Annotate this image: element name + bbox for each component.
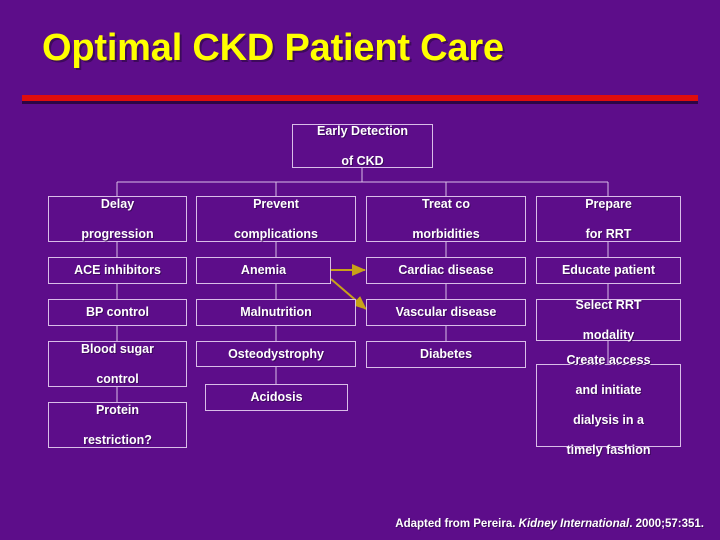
node-osteodystrophy[interactable]: Osteodystrophy — [196, 341, 356, 367]
node-malnutrition[interactable]: Malnutrition — [196, 299, 356, 326]
node-line-2: complications — [201, 227, 351, 242]
node-diabetes[interactable]: Diabetes — [366, 341, 526, 368]
node-line-2: modality — [541, 328, 676, 343]
node-line-1: Prepare — [541, 197, 676, 212]
node-line-1: Acidosis — [210, 390, 343, 405]
node-line-2: progression — [53, 227, 182, 242]
node-blood-sugar-control[interactable]: Blood sugar control — [48, 341, 187, 387]
node-ace-inhibitors[interactable]: ACE inhibitors — [48, 257, 187, 284]
citation-prefix: Adapted from Pereira. — [395, 518, 518, 530]
node-select-rrt-modality[interactable]: Select RRT modality — [536, 299, 681, 341]
node-educate-patient[interactable]: Educate patient — [536, 257, 681, 284]
node-line-1: Diabetes — [371, 347, 521, 362]
node-line-1: Prevent — [201, 197, 351, 212]
node-delay-progression[interactable]: Delay progression — [48, 196, 187, 242]
node-line-1: Anemia — [201, 263, 326, 278]
node-acidosis[interactable]: Acidosis — [205, 384, 348, 411]
node-line-2: and initiate — [541, 383, 676, 398]
node-treat-co-morbidities[interactable]: Treat co morbidities — [366, 196, 526, 242]
node-prevent-complications[interactable]: Prevent complications — [196, 196, 356, 242]
citation-journal: Kidney International — [519, 518, 630, 530]
node-line-1: Select RRT — [541, 298, 676, 313]
slide-canvas: Optimal CKD Patient Care — [0, 0, 720, 540]
node-line-1: ACE inhibitors — [53, 263, 182, 278]
node-line-1: Malnutrition — [201, 305, 351, 320]
node-line-1: Delay — [53, 197, 182, 212]
citation-suffix: . 2000;57:351. — [629, 518, 704, 530]
node-bp-control[interactable]: BP control — [48, 299, 187, 326]
node-prepare-for-rrt[interactable]: Prepare for RRT — [536, 196, 681, 242]
node-line-2: of CKD — [297, 154, 428, 169]
node-line-1: BP control — [53, 305, 182, 320]
node-anemia[interactable]: Anemia — [196, 257, 331, 284]
node-line-2: morbidities — [371, 227, 521, 242]
node-line-1: Create access — [541, 353, 676, 368]
node-line-1: Protein — [53, 403, 182, 418]
node-line-1: Vascular disease — [371, 305, 521, 320]
node-line-1: Early Detection — [297, 124, 428, 139]
node-line-1: Educate patient — [541, 263, 676, 278]
node-line-4: timely fashion — [541, 443, 676, 458]
node-create-access-initiate-dialysis[interactable]: Create access and initiate dialysis in a… — [536, 364, 681, 447]
node-line-2: for RRT — [541, 227, 676, 242]
node-line-1: Blood sugar — [53, 342, 182, 357]
ckd-care-flowchart: Early Detection of CKD Delay progression… — [0, 0, 720, 540]
node-cardiac-disease[interactable]: Cardiac disease — [366, 257, 526, 284]
node-vascular-disease[interactable]: Vascular disease — [366, 299, 526, 326]
node-line-3: dialysis in a — [541, 413, 676, 428]
node-line-1: Cardiac disease — [371, 263, 521, 278]
node-line-1: Treat co — [371, 197, 521, 212]
node-protein-restriction[interactable]: Protein restriction? — [48, 402, 187, 448]
source-citation: Adapted from Pereira. Kidney Internation… — [395, 518, 704, 530]
node-line-2: control — [53, 372, 182, 387]
node-line-1: Osteodystrophy — [201, 347, 351, 362]
node-early-detection-of-ckd[interactable]: Early Detection of CKD — [292, 124, 433, 168]
node-line-2: restriction? — [53, 433, 182, 448]
